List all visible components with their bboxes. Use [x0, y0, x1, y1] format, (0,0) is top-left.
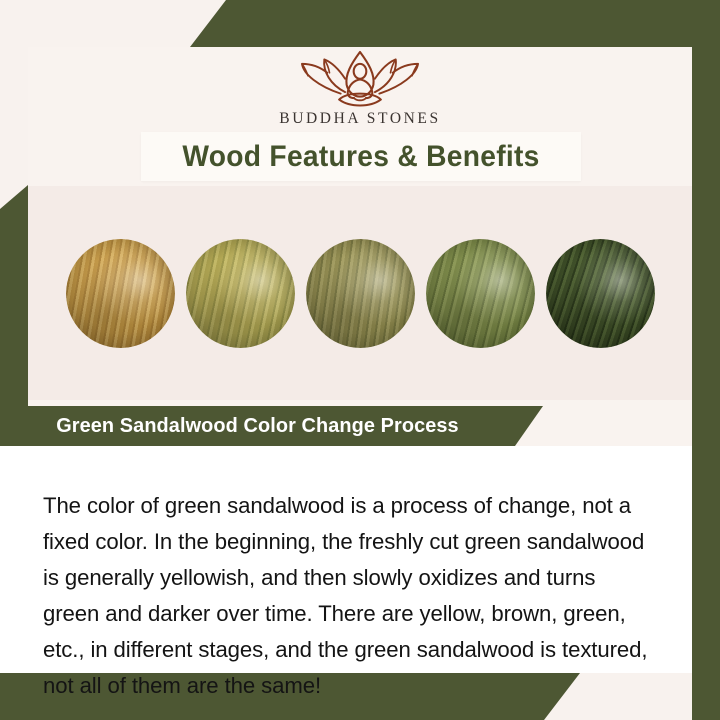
section-title: Green Sandalwood Color Change Process	[56, 414, 458, 438]
title-plate: Wood Features & Benefits	[141, 132, 581, 181]
brand-name: BUDDHA STONES	[279, 110, 440, 128]
bead-stage-4	[426, 239, 535, 348]
frame-band-top	[190, 0, 720, 47]
bead-highlight	[186, 239, 295, 348]
frame-band-right	[692, 0, 720, 720]
section-ribbon: Green Sandalwood Color Change Process	[0, 406, 543, 446]
bead-highlight	[426, 239, 535, 348]
infographic-poster: BUDDHA STONES Wood Features & Benefits	[0, 0, 720, 720]
bead-stage-5	[546, 239, 655, 348]
bead-stage-1	[66, 239, 175, 348]
poster-canvas: BUDDHA STONES Wood Features & Benefits	[28, 47, 692, 673]
bead-stage-2	[186, 239, 295, 348]
description-text: The color of green sandalwood is a proce…	[43, 488, 653, 704]
description-card: The color of green sandalwood is a proce…	[0, 446, 692, 673]
bead-gallery	[28, 186, 692, 400]
brand-logo: BUDDHA STONES	[28, 47, 692, 132]
bead-stage-3	[306, 239, 415, 348]
bead-highlight	[546, 239, 655, 348]
page-title: Wood Features & Benefits	[182, 140, 539, 174]
lotus-meditation-icon	[285, 49, 435, 107]
bead-highlight	[306, 239, 415, 348]
bead-highlight	[66, 239, 175, 348]
